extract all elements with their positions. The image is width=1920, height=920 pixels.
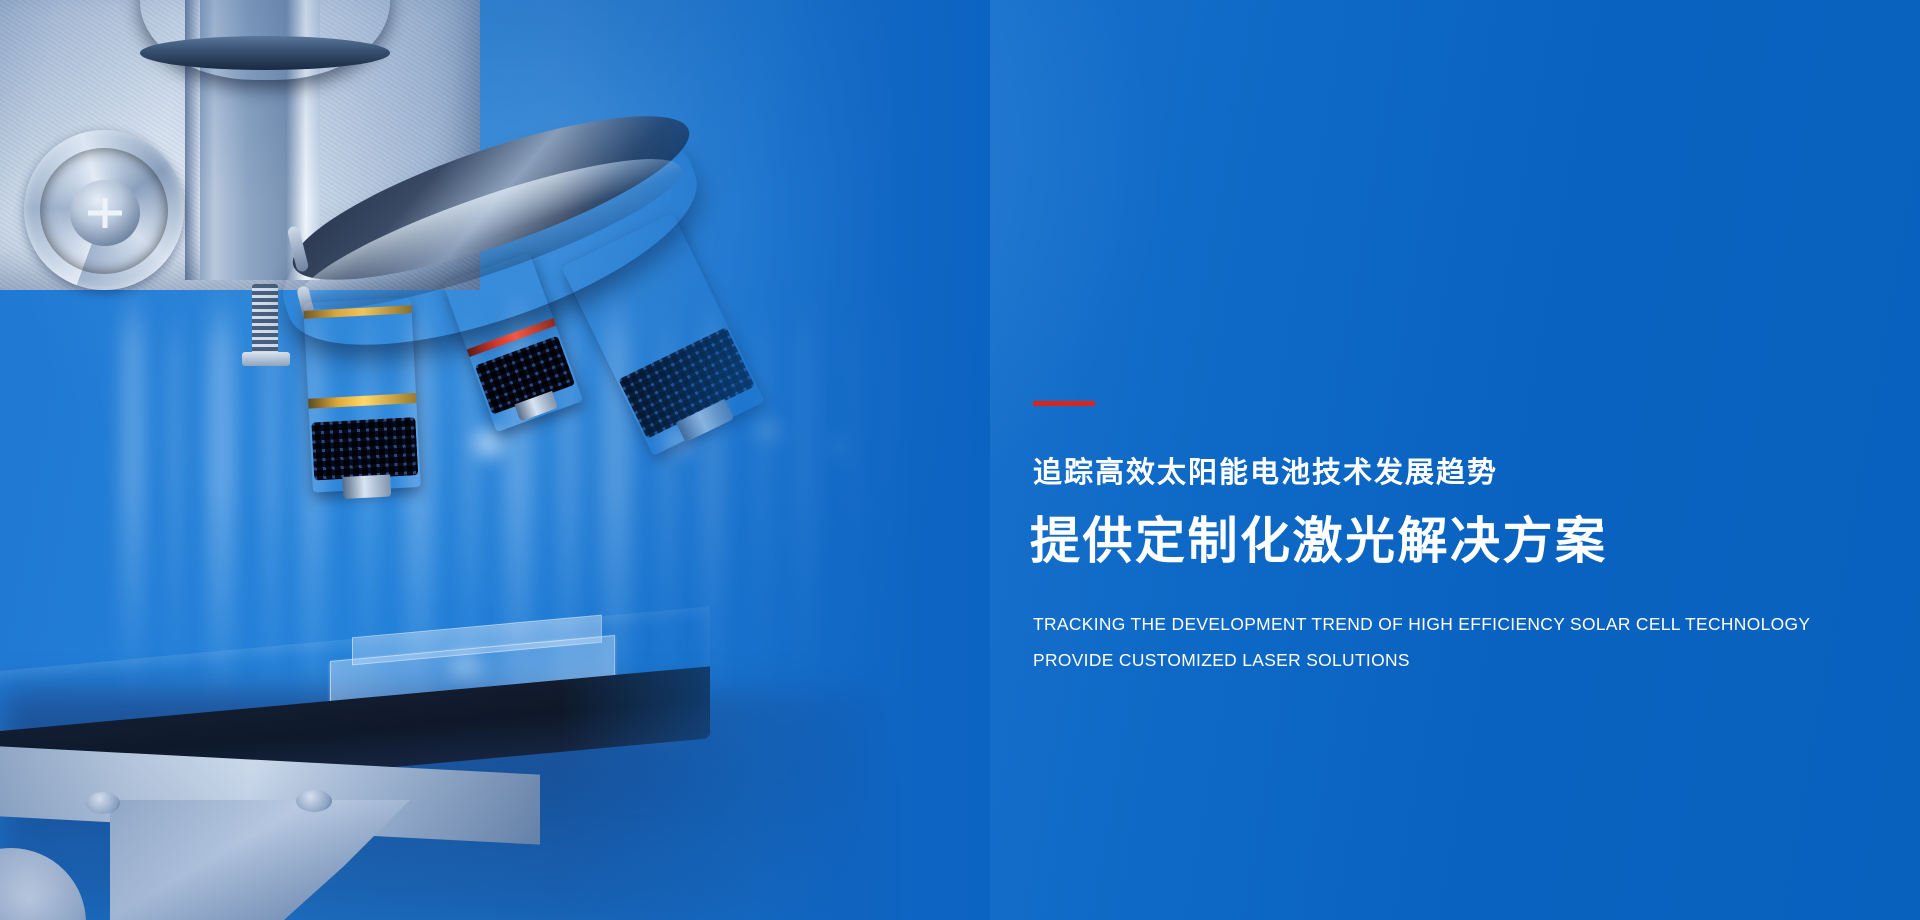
- microscope-photo: [0, 0, 900, 920]
- adjust-screw-stem: [252, 284, 278, 358]
- accent-rule: [1033, 401, 1095, 406]
- hero-banner: 追踪高效太阳能电池技术发展趋势 提供定制化激光解决方案 TRACKING THE…: [0, 0, 1920, 920]
- adjust-screw-foot: [242, 352, 290, 366]
- slide-holder-post-lower: [148, 600, 196, 654]
- headline-secondary: 追踪高效太阳能电池技术发展趋势: [1033, 458, 1498, 490]
- headline-primary: 提供定制化激光解决方案: [1030, 513, 1608, 571]
- subtitle-line-1: TRACKING THE DEVELOPMENT TREND OF HIGH E…: [1033, 614, 1810, 635]
- eyepiece-cap-rim: [140, 36, 390, 70]
- slide-holder-wire-mid: [197, 574, 346, 602]
- slide-holder-post: [183, 560, 213, 604]
- base-notch-right: [296, 790, 332, 812]
- condenser-wheel: [0, 848, 86, 920]
- banner-text-block: 追踪高效太阳能电池技术发展趋势 提供定制化激光解决方案 TRACKING THE…: [1033, 0, 1873, 920]
- objective-tip: [342, 475, 391, 499]
- objective-lens-yellow: [303, 297, 421, 492]
- microscope-base-bracket: [110, 800, 410, 920]
- cross-head-screw-icon: [88, 198, 122, 228]
- objective-knurl: [312, 417, 419, 480]
- base-notch-left: [86, 792, 120, 814]
- subtitle-line-2: PROVIDE CUSTOMIZED LASER SOLUTIONS: [1033, 650, 1410, 671]
- photo-edge-fade: [560, 0, 990, 920]
